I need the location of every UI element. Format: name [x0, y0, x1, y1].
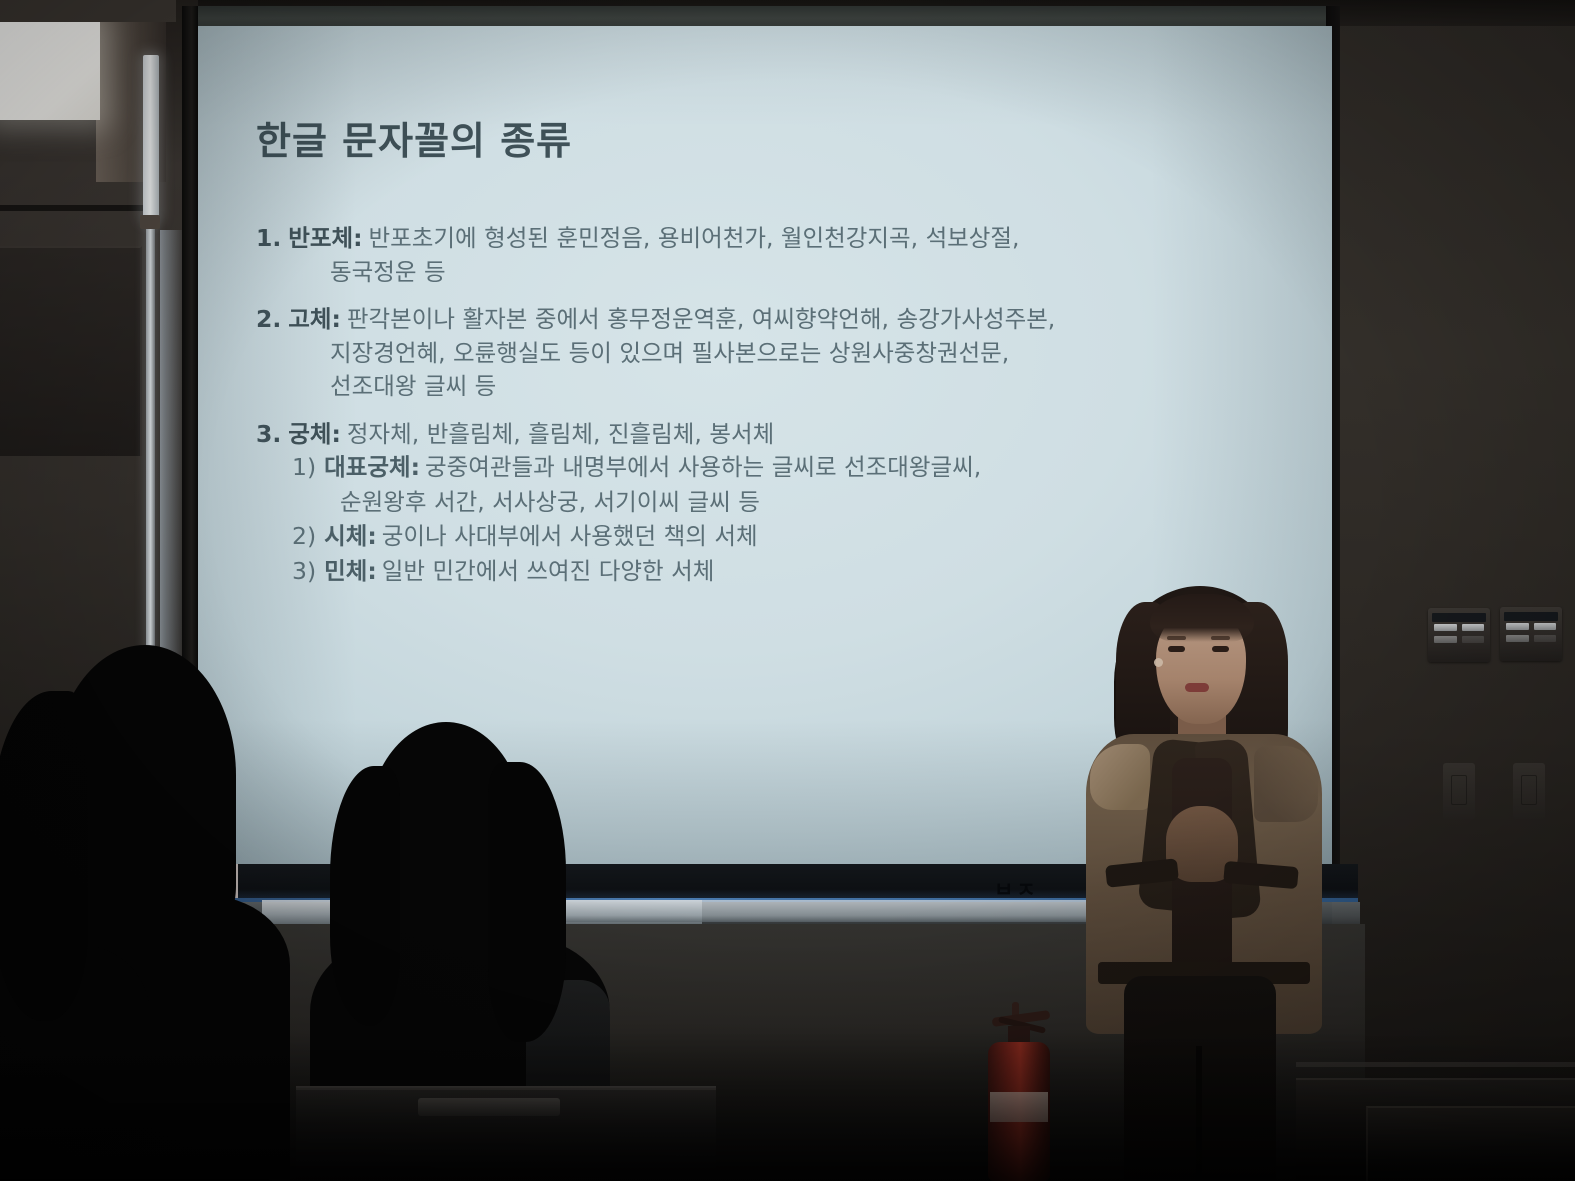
slide-subitem-3-2-term: 시체:	[324, 525, 377, 549]
slide-item-1-term: 반포체:	[288, 227, 362, 251]
audience-2-hair-right	[488, 762, 566, 1042]
switch-toggle-2[interactable]	[1462, 624, 1484, 631]
slide-item-3-number: 3.	[256, 423, 281, 447]
presenter-eye-right	[1212, 646, 1229, 652]
desk-right-edge	[1296, 1062, 1575, 1067]
switch-toggle-4[interactable]	[1462, 636, 1484, 643]
extinguisher-label	[990, 1092, 1048, 1122]
under-screen-window-strip-2	[560, 900, 1120, 922]
switch-toggle-7[interactable]	[1506, 635, 1529, 642]
wall-ledge	[0, 205, 150, 211]
slide-item-3-term: 궁체:	[288, 423, 341, 447]
slide-item-1: 1. 반포체: 반포초기에 형성된 훈민정음, 용비어천가, 월인천강지곡, 석…	[256, 227, 1292, 251]
outlet-slot	[1521, 775, 1537, 805]
slide-item-1-body: 반포초기에 형성된 훈민정음, 용비어천가, 월인천강지곡, 석보상절,	[369, 227, 1020, 251]
slide-subitem-3-3-term: 민체:	[324, 560, 377, 584]
presenter-mouth	[1185, 683, 1209, 692]
window-light-panel	[0, 22, 100, 120]
slide-item-2-number: 2.	[256, 308, 281, 332]
slide-item-1-continuation-1: 동국정운 등	[330, 261, 1292, 285]
fire-extinguisher-icon	[982, 1000, 1060, 1181]
light-strip-glow	[160, 230, 182, 680]
slide-item-2-term: 고체:	[288, 308, 341, 332]
slide-subitem-3-2: 2) 시체: 궁이나 사대부에서 사용했던 책의 서체	[292, 525, 1292, 549]
slide-item-2: 2. 고체: 판각본이나 활자본 중에서 홍무정운역훈, 여씨향약언해, 송강가…	[256, 308, 1292, 332]
slide-subitem-3-3-body: 일반 민간에서 쓰여진 다양한 서체	[382, 560, 715, 584]
wall-outlet-left[interactable]	[1443, 763, 1475, 819]
audience-1-hair-left	[0, 691, 88, 1021]
wall-outlet-right[interactable]	[1513, 763, 1545, 819]
slide-subitem-3-3-number: 3)	[292, 560, 316, 584]
slide-subitem-3-2-number: 2)	[292, 525, 316, 549]
presenter-shoulder-left	[1090, 744, 1150, 810]
screen-top-band	[198, 6, 1326, 28]
window-frame-top	[0, 0, 176, 22]
desk-right-front	[1366, 1106, 1575, 1181]
slide-item-2-body: 판각본이나 활자본 중에서 홍무정운역훈, 여씨향약언해, 송강가사성주본,	[347, 308, 1055, 332]
slide-subitem-3-2-body: 궁이나 사대부에서 사용했던 책의 서체	[382, 525, 758, 549]
presenter-shoulder-right	[1254, 746, 1318, 822]
vertical-light-strip-lower	[146, 220, 155, 690]
slide-subitem-3-1-body: 궁중여관들과 내명부에서 사용하는 글씨로 선조대왕글씨,	[425, 456, 981, 480]
switch-toggle-8[interactable]	[1534, 635, 1556, 642]
presenter-eyebrow-left	[1167, 636, 1186, 640]
slide-item-3: 3. 궁체: 정자체, 반흘림체, 흘림체, 진흘림체, 봉서체	[256, 423, 1292, 447]
wall-bracket	[140, 215, 160, 229]
audience-2-hair-left	[330, 766, 400, 1026]
switch-toggle-5[interactable]	[1506, 623, 1529, 630]
left-wall-panel	[0, 246, 142, 456]
desk-object	[418, 1098, 560, 1116]
slide-subitem-3-1-continuation-1: 순원왕후 서간, 서사상궁, 서기이씨 글씨 등	[340, 491, 1292, 515]
presenter-leg-split	[1196, 1046, 1202, 1181]
audience-member-1	[0, 645, 320, 1181]
presenter-hair-fringe	[1150, 594, 1254, 642]
switch-dark-band	[1504, 612, 1558, 621]
headset-microphone-icon	[1154, 658, 1163, 667]
light-switch-plate-right[interactable]	[1500, 607, 1562, 661]
lecture-room-scene: 한글 문자꼴의 종류 1. 반포체: 반포초기에 형성된 훈민정음, 용비어천가…	[0, 0, 1575, 1181]
outlet-slot	[1451, 775, 1467, 805]
light-switch-plate-left[interactable]	[1428, 608, 1490, 662]
slide-title: 한글 문자꼴의 종류	[256, 110, 1292, 165]
switch-toggle-1[interactable]	[1434, 624, 1457, 631]
presenter-eyebrow-right	[1211, 636, 1230, 640]
slide-subitem-3-1-number: 1)	[292, 456, 316, 480]
vertical-light-strip	[143, 55, 159, 220]
slide-item-1-number: 1.	[256, 227, 281, 251]
slide-subitem-3-1-term: 대표궁체:	[324, 456, 420, 480]
presenter-eye-left	[1168, 646, 1185, 652]
switch-toggle-3[interactable]	[1434, 636, 1457, 643]
slide-item-3-body: 정자체, 반흘림체, 흘림체, 진흘림체, 봉서체	[347, 423, 774, 447]
slide-item-2-continuation-2: 선조대왕 글씨 등	[330, 375, 1292, 399]
slide-item-2-continuation-1: 지장경언혜, 오륜행실도 등이 있으며 필사본으로는 상원사중창권선문,	[330, 342, 1292, 366]
switch-dark-band	[1432, 613, 1486, 622]
slide-subitem-3-1: 1) 대표궁체: 궁중여관들과 내명부에서 사용하는 글씨로 선조대왕글씨,	[292, 456, 1292, 480]
switch-toggle-6[interactable]	[1534, 623, 1556, 630]
right-wall	[1332, 0, 1575, 1181]
